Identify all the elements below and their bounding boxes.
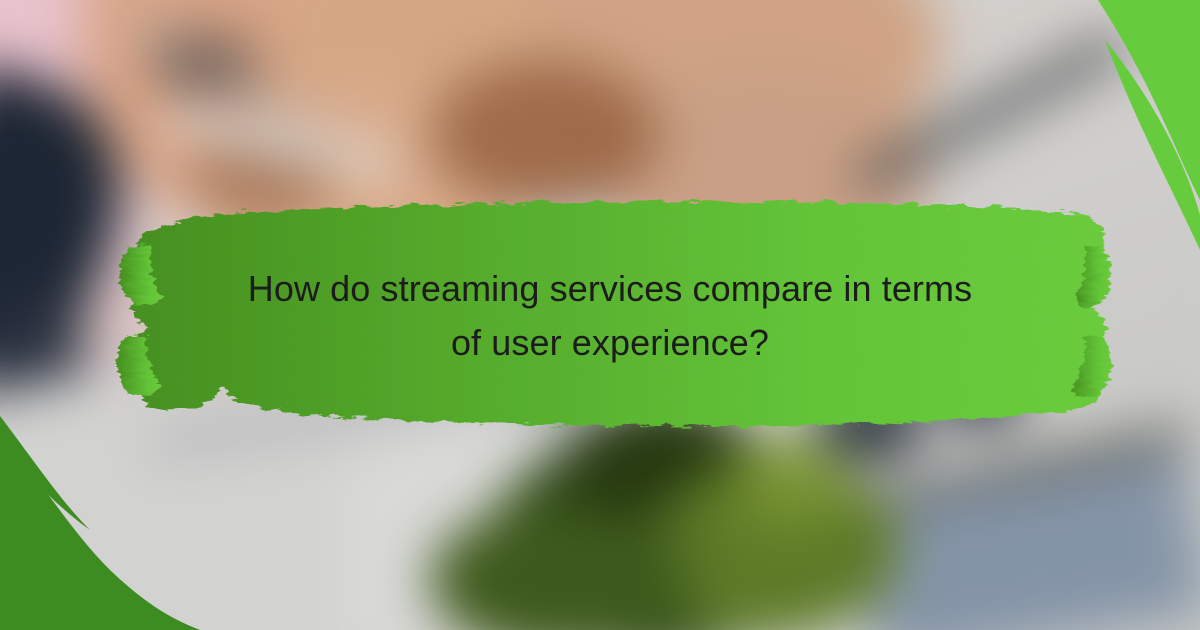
dark-object-top — [150, 30, 260, 100]
foliage-shape-5 — [730, 430, 850, 530]
headline-line-1: How do streaming services compare in ter… — [150, 262, 1070, 316]
headline-line-2: of user experience? — [150, 316, 1070, 370]
headline-text: How do streaming services compare in ter… — [150, 262, 1070, 370]
social-card: How do streaming services compare in ter… — [0, 0, 1200, 630]
